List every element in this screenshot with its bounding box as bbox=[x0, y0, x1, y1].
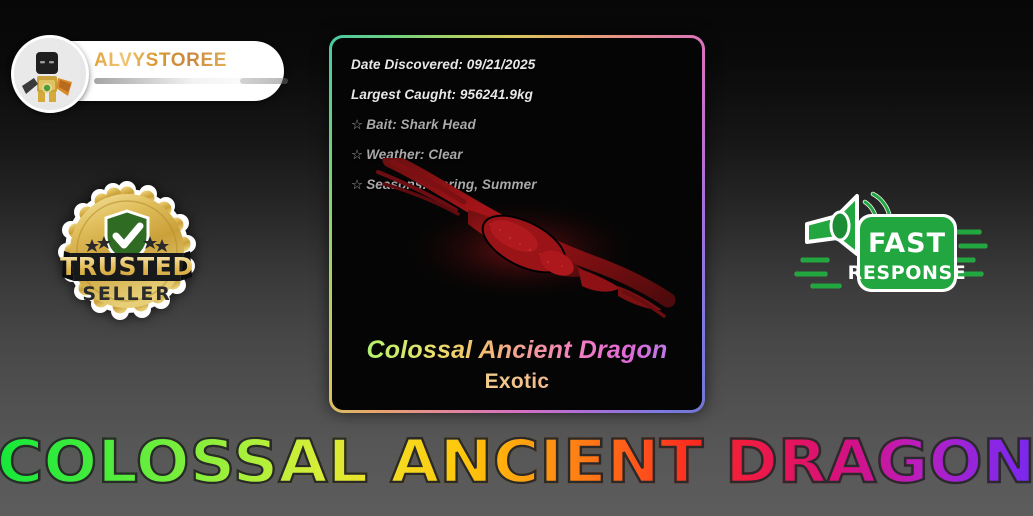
star-icon: ☆ bbox=[351, 117, 363, 132]
fish-name: Colossal Ancient Dragon bbox=[332, 336, 702, 365]
trusted-seller-badge: TRUSTED SELLER bbox=[56, 181, 198, 321]
avatar[interactable] bbox=[11, 35, 89, 113]
fast-response-badge: FAST RESPONSE bbox=[793, 180, 989, 300]
roblox-avatar-icon bbox=[14, 38, 80, 104]
fish-info-card: Date Discovered: 09/21/2025 Largest Caug… bbox=[329, 35, 705, 413]
fish-card-inner: Date Discovered: 09/21/2025 Largest Caug… bbox=[332, 38, 702, 410]
seller-username: ALVYSTOREE bbox=[94, 50, 227, 72]
fish-rarity: Exotic bbox=[332, 370, 702, 394]
trusted-label: TRUSTED bbox=[60, 252, 194, 281]
stat-bait-row: ☆Bait: Shark Head bbox=[351, 117, 476, 133]
stat-bait: Bait: Shark Head bbox=[366, 117, 476, 132]
red-dragon-fish-icon bbox=[332, 158, 702, 358]
fast-label: FAST bbox=[868, 228, 946, 259]
seller-subtext-placeholder-bar-2 bbox=[240, 78, 288, 84]
seller-label: SELLER bbox=[82, 283, 171, 305]
banner-title: COLOSSAL ANCIENT DRAGON bbox=[0, 424, 1033, 500]
screenshot-canvas: ALVYSTOREE bbox=[0, 0, 1033, 516]
fish-artwork bbox=[332, 158, 702, 358]
stat-date-discovered: Date Discovered: 09/21/2025 bbox=[351, 57, 535, 72]
banner: COLOSSAL ANCIENT DRAGON bbox=[0, 424, 1033, 500]
stat-largest-caught: Largest Caught: 956241.9kg bbox=[351, 87, 533, 102]
response-label: RESPONSE bbox=[848, 262, 967, 284]
